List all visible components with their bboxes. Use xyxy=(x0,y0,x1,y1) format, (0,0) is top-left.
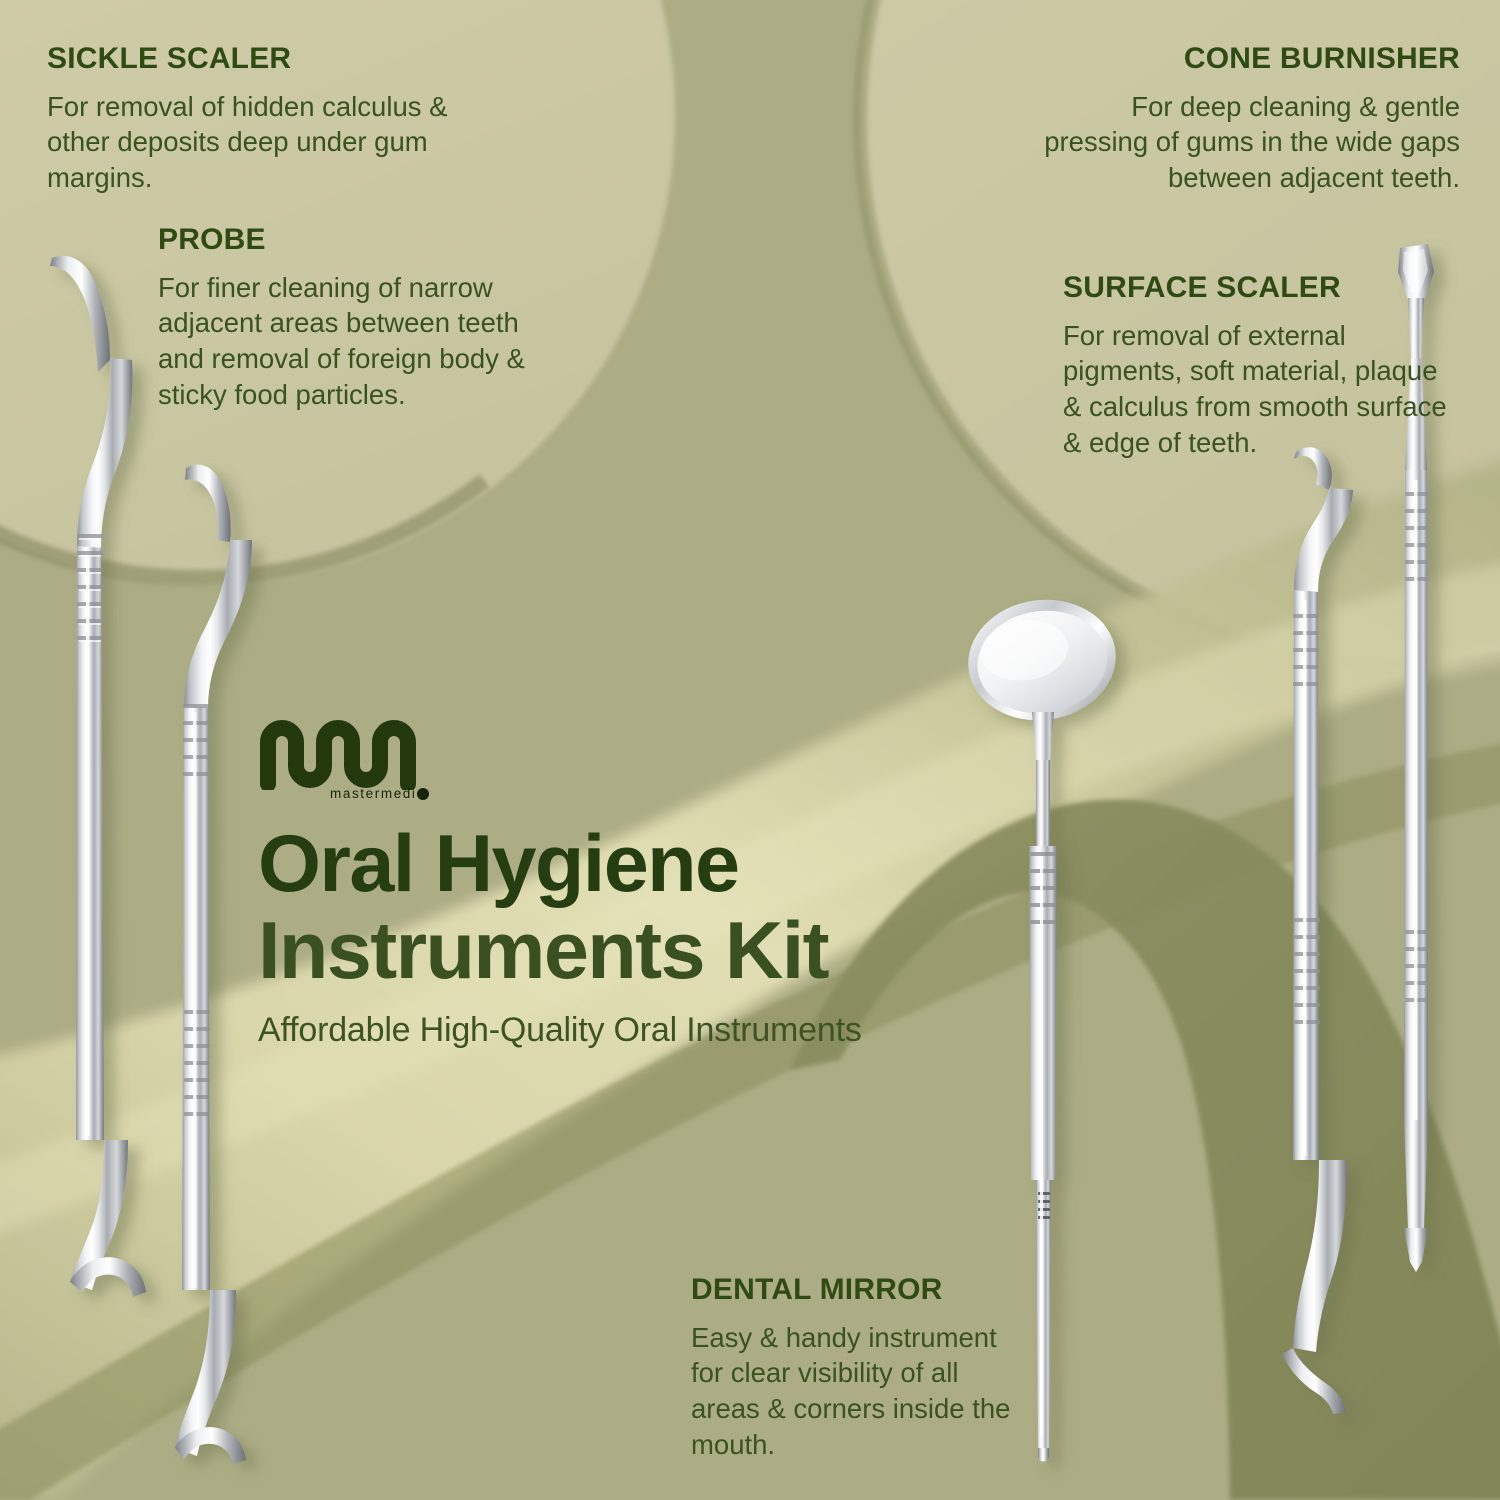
callout-heading-cone-burnisher: CONE BURNISHER xyxy=(1040,43,1460,75)
callout-dental-mirror: DENTAL MIRROR Easy & handy instrument fo… xyxy=(691,1274,1031,1463)
sickle-scaler-tool xyxy=(50,256,146,1297)
callout-probe: PROBE For finer cleaning of narrow adjac… xyxy=(158,224,558,413)
brand-dot-icon xyxy=(417,788,429,800)
callout-heading-probe: PROBE xyxy=(158,224,558,256)
callout-body-probe: For finer cleaning of narrow adjacent ar… xyxy=(158,270,558,413)
callout-surface-scaler: SURFACE SCALER For removal of external p… xyxy=(1063,272,1463,461)
brand-wordmark: mastermedi xyxy=(330,786,417,801)
callout-heading-sickle-scaler: SICKLE SCALER xyxy=(47,43,467,75)
product-subtitle: Affordable High-Quality Oral Instruments xyxy=(258,1012,958,1049)
brand-wordmark-row: mastermedi xyxy=(258,786,958,806)
callout-heading-surface-scaler: SURFACE SCALER xyxy=(1063,272,1463,304)
callout-body-surface-scaler: For removal of external pigments, soft m… xyxy=(1063,318,1463,461)
product-title-line1: Oral Hygiene xyxy=(258,826,958,903)
callout-heading-dental-mirror: DENTAL MIRROR xyxy=(691,1274,1031,1306)
surface-scaler-tool xyxy=(1282,447,1353,1414)
mastermedi-wave-logo-icon xyxy=(258,718,434,790)
callout-sickle-scaler: SICKLE SCALER For removal of hidden calc… xyxy=(47,43,467,196)
callout-cone-burnisher: CONE BURNISHER For deep cleaning & gentl… xyxy=(1040,43,1460,196)
probe-tool xyxy=(175,465,252,1464)
callout-body-cone-burnisher: For deep cleaning & gentle pressing of g… xyxy=(1040,89,1460,196)
brand-block: mastermedi Oral Hygiene Instruments Kit … xyxy=(258,718,958,1049)
callout-body-sickle-scaler: For removal of hidden calculus & other d… xyxy=(47,89,467,196)
callout-body-dental-mirror: Easy & handy instrument for clear visibi… xyxy=(691,1320,1031,1463)
product-title-line2: Instruments Kit xyxy=(258,913,958,990)
product-infographic: SICKLE SCALER For removal of hidden calc… xyxy=(0,0,1500,1500)
